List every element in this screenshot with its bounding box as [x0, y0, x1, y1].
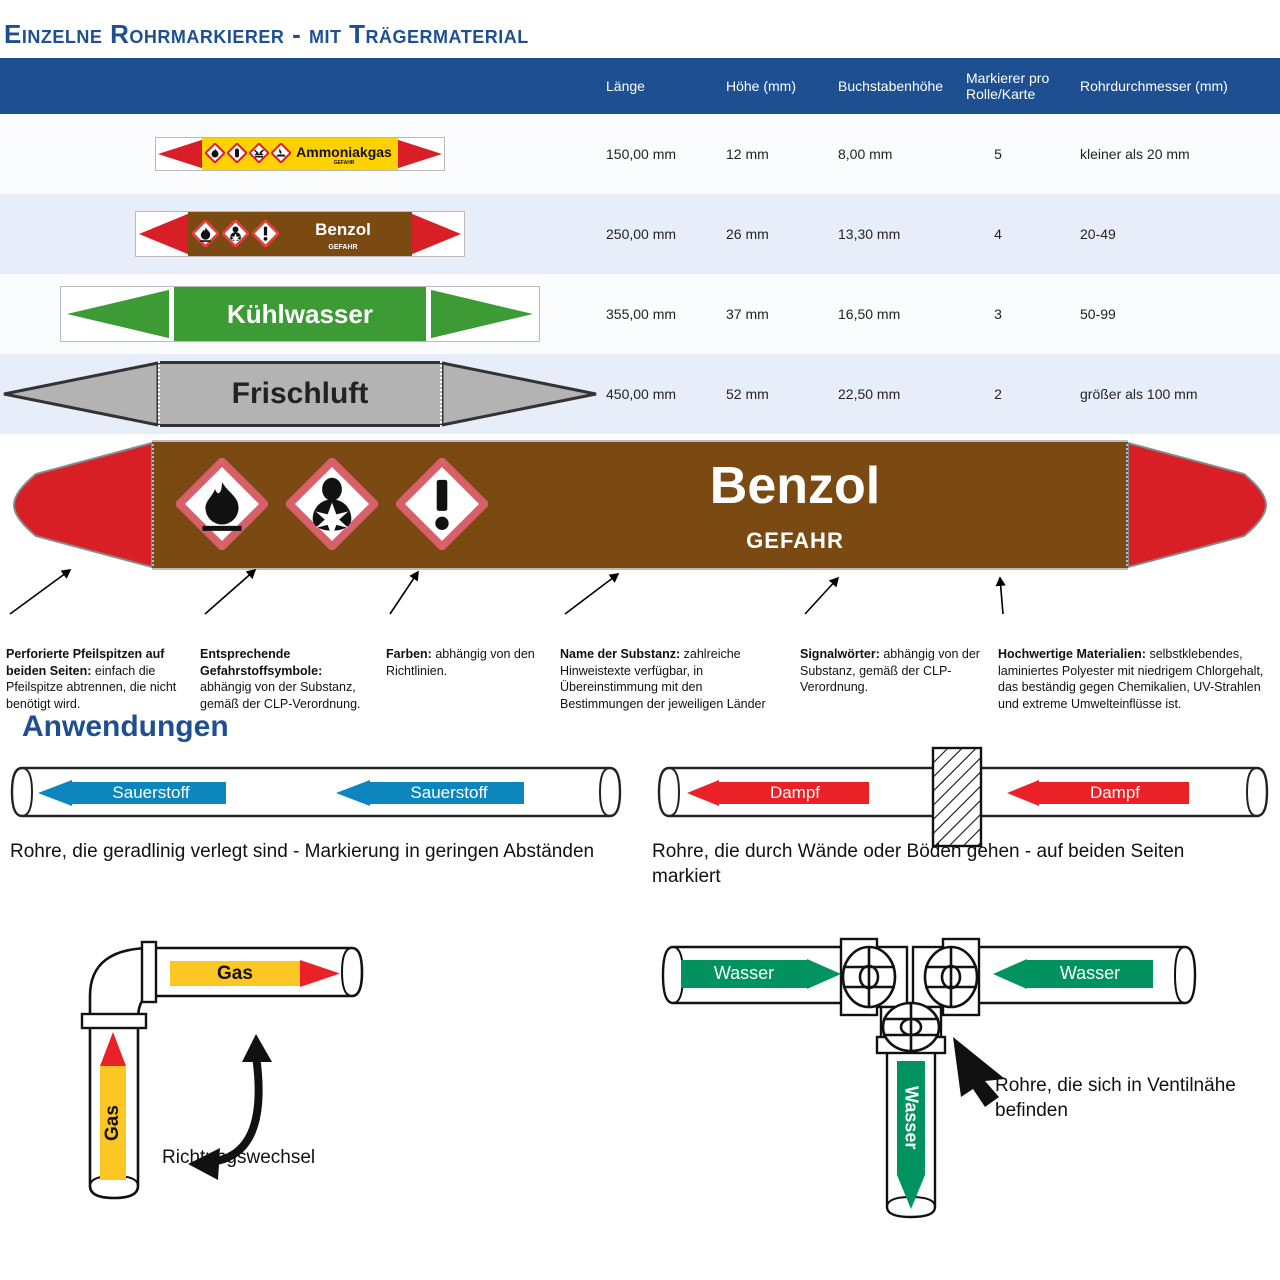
cell-laenge: 355,00 mm — [600, 274, 720, 354]
cell-buchstabenhoehe: 8,00 mm — [832, 114, 960, 194]
callout-body: abhängig von der Substanz, gemäß der CLP… — [200, 680, 361, 711]
callout-lead: Farben: — [386, 647, 432, 661]
marker-label-text: Sauerstoff — [82, 783, 220, 803]
callout-lead: Entsprechende Gefahrstoffsymbole: — [200, 647, 322, 678]
table-row: Ammoniakgas GEFAHR — [0, 114, 1280, 194]
table-row: Benzol GEFAHR — [0, 194, 1280, 274]
pictogram-group — [176, 458, 488, 550]
callout-substance-name: Name der Substanz: zahlreiche Hinweistex… — [560, 646, 772, 712]
marker-signal-word: GEFAHR — [294, 161, 394, 166]
callout-hazard-symbols: Entsprechende Gefahrstoffsymbole: abhäng… — [200, 646, 368, 712]
callout-materials: Hochwertige Materialien: selbstklebendes… — [998, 646, 1278, 712]
perforation-line-left — [152, 442, 154, 568]
marker-label-sauerstoff-1: Sauerstoff — [38, 780, 226, 806]
arrow-tip-right — [429, 287, 539, 341]
marker-label: Ammoniakgas — [294, 145, 394, 159]
marker-label-text: Wasser — [681, 963, 807, 984]
cell-rohrdurchmesser: 20-49 — [1074, 194, 1280, 274]
table-row: Frischluft 450,00 mm 52 mm 22,50 mm 2 gr… — [0, 354, 1280, 434]
marker-label-dampf-1: Dampf — [687, 780, 869, 806]
arrow-tip-left — [61, 287, 171, 341]
column-header-laenge: Länge — [600, 58, 720, 114]
applications-section: Sauerstoff Sauerstoff Rohre, die geradli… — [0, 744, 1280, 1204]
health-hazard-icon — [222, 220, 249, 247]
health-hazard-icon — [286, 458, 378, 550]
marker-label-gas-vertical: Gas — [99, 1032, 127, 1180]
column-header-buchstabenhoehe: Buchstabenhöhe — [832, 58, 960, 114]
specification-table: Länge Höhe (mm) Buchstabenhöhe Markierer… — [0, 58, 1280, 434]
pipe-marker-frischluft: Frischluft — [0, 361, 600, 427]
wall-hatch-icon — [925, 742, 989, 852]
pictogram-group — [205, 143, 291, 163]
marker-label-wasser-left: Wasser — [681, 959, 841, 989]
table-row: Kühlwasser 355,00 mm 37 mm 16,50 mm 3 50… — [0, 274, 1280, 354]
cell-buchstabenhoehe: 13,30 mm — [832, 194, 960, 274]
cell-buchstabenhoehe: 16,50 mm — [832, 274, 960, 354]
marker-label-text: Wasser — [896, 1061, 926, 1175]
marker-label-text: Sauerstoff — [380, 783, 518, 803]
callout-group: Perforierte Pfeilspitzen auf beiden Seit… — [0, 584, 1280, 704]
page-title: Einzelne Rohrmarkierer - mit Trägermater… — [0, 0, 1280, 58]
callout-lead: Hochwertige Materialien: — [998, 647, 1146, 661]
feature-arrow-tip-right — [1126, 440, 1272, 570]
marker-label-text: Wasser — [1027, 963, 1153, 984]
column-header-markierer: Markierer pro Rolle/Karte — [960, 58, 1074, 114]
cell-markierer: 5 — [960, 114, 1074, 194]
feature-arrow-tip-left — [8, 440, 154, 570]
gas-cylinder-icon — [227, 143, 247, 163]
callout-lead: Signalwörter: — [800, 647, 880, 661]
perforation-line-right — [440, 361, 442, 427]
pipe-marker-benzol: Benzol GEFAHR — [135, 211, 465, 257]
callout-colors: Farben: abhängig von den Richtlinien. — [386, 646, 546, 679]
pictogram-group — [192, 220, 279, 247]
callout-signal-words: Signalwörter: abhängig von der Substanz,… — [800, 646, 980, 696]
marker-label: Benzol — [280, 221, 406, 238]
column-header-hoehe: Höhe (mm) — [720, 58, 832, 114]
cell-buchstabenhoehe: 22,50 mm — [832, 354, 960, 434]
sample-cell-benzol: Benzol GEFAHR — [0, 194, 600, 274]
column-header-rohrdurchmesser: Rohrdurchmesser (mm) — [1074, 58, 1280, 114]
arrow-tip-right — [412, 212, 464, 256]
cell-hoehe: 52 mm — [720, 354, 832, 434]
corrosion-icon — [249, 143, 269, 163]
application-straight-pipe: Sauerstoff Sauerstoff — [8, 764, 624, 820]
application-elbow-pipe: Gas Gas — [60, 934, 390, 1214]
arrow-tip-left — [136, 212, 188, 256]
flame-icon — [192, 220, 219, 247]
cell-rohrdurchmesser: größer als 100 mm — [1074, 354, 1280, 434]
application-caption-elbow: Richtungswechsel — [162, 1146, 462, 1171]
sample-cell-ammoniakgas: Ammoniakgas GEFAHR — [0, 114, 600, 194]
environment-icon — [271, 143, 291, 163]
marker-label-wasser-vertical: Wasser — [896, 1061, 926, 1209]
callout-perforated-tips: Perforierte Pfeilspitzen auf beiden Seit… — [6, 646, 184, 712]
sample-cell-frischluft: Frischluft — [0, 354, 600, 434]
cell-hoehe: 26 mm — [720, 194, 832, 274]
sample-cell-kuehlwasser: Kühlwasser — [0, 274, 600, 354]
marker-label-wasser-right: Wasser — [993, 959, 1153, 989]
application-caption-straight: Rohre, die geradlinig verlegt sind - Mar… — [10, 840, 610, 865]
cell-hoehe: 37 mm — [720, 274, 832, 354]
perforation-line-right — [1126, 442, 1128, 568]
cell-rohrdurchmesser: kleiner als 20 mm — [1074, 114, 1280, 194]
table-header-row: Länge Höhe (mm) Buchstabenhöhe Markierer… — [0, 58, 1280, 114]
feature-marker-signal-word: GEFAHR — [484, 528, 1106, 554]
cell-laenge: 150,00 mm — [600, 114, 720, 194]
marker-label-text: Dampf — [1047, 783, 1183, 803]
arrow-tip-right — [398, 138, 444, 170]
pipe-marker-ammoniakgas: Ammoniakgas GEFAHR — [155, 137, 445, 171]
feature-marker-body: Benzol GEFAHR — [152, 440, 1128, 570]
arrow-tip-left — [0, 361, 160, 427]
flame-icon — [176, 458, 268, 550]
feature-marker-label: Benzol — [484, 460, 1106, 512]
marker-label-gas-horizontal: Gas — [170, 960, 340, 987]
column-header-sample — [0, 58, 600, 114]
cell-markierer: 3 — [960, 274, 1074, 354]
flame-icon — [205, 143, 225, 163]
cell-hoehe: 12 mm — [720, 114, 832, 194]
cell-laenge: 250,00 mm — [600, 194, 720, 274]
application-caption-valve: Rohre, die sich in Ventilnähe befinden — [995, 1074, 1275, 1123]
marker-label-dampf-2: Dampf — [1007, 780, 1189, 806]
exclamation-icon — [252, 220, 279, 247]
perforation-line-left — [158, 361, 160, 427]
application-caption-wall: Rohre, die durch Wände oder Böden gehen … — [652, 840, 1252, 889]
arrow-tip-left — [156, 138, 202, 170]
marker-label-text: Dampf — [727, 783, 863, 803]
marker-signal-word: GEFAHR — [280, 244, 406, 251]
cell-markierer: 4 — [960, 194, 1074, 274]
cell-laenge: 450,00 mm — [600, 354, 720, 434]
marker-label: Kühlwasser — [227, 301, 373, 327]
marker-label-text: Gas — [170, 963, 300, 985]
pipe-marker-kuehlwasser: Kühlwasser — [60, 286, 540, 342]
marker-label: Frischluft — [232, 379, 369, 409]
arrow-tip-right — [440, 361, 600, 427]
exclamation-icon — [396, 458, 488, 550]
feature-marker-diagram: Benzol GEFAHR — [0, 434, 1280, 584]
cell-markierer: 2 — [960, 354, 1074, 434]
marker-label-sauerstoff-2: Sauerstoff — [336, 780, 524, 806]
cell-rohrdurchmesser: 50-99 — [1074, 274, 1280, 354]
callout-lead: Name der Substanz: — [560, 647, 680, 661]
marker-label-text: Gas — [99, 1066, 127, 1180]
